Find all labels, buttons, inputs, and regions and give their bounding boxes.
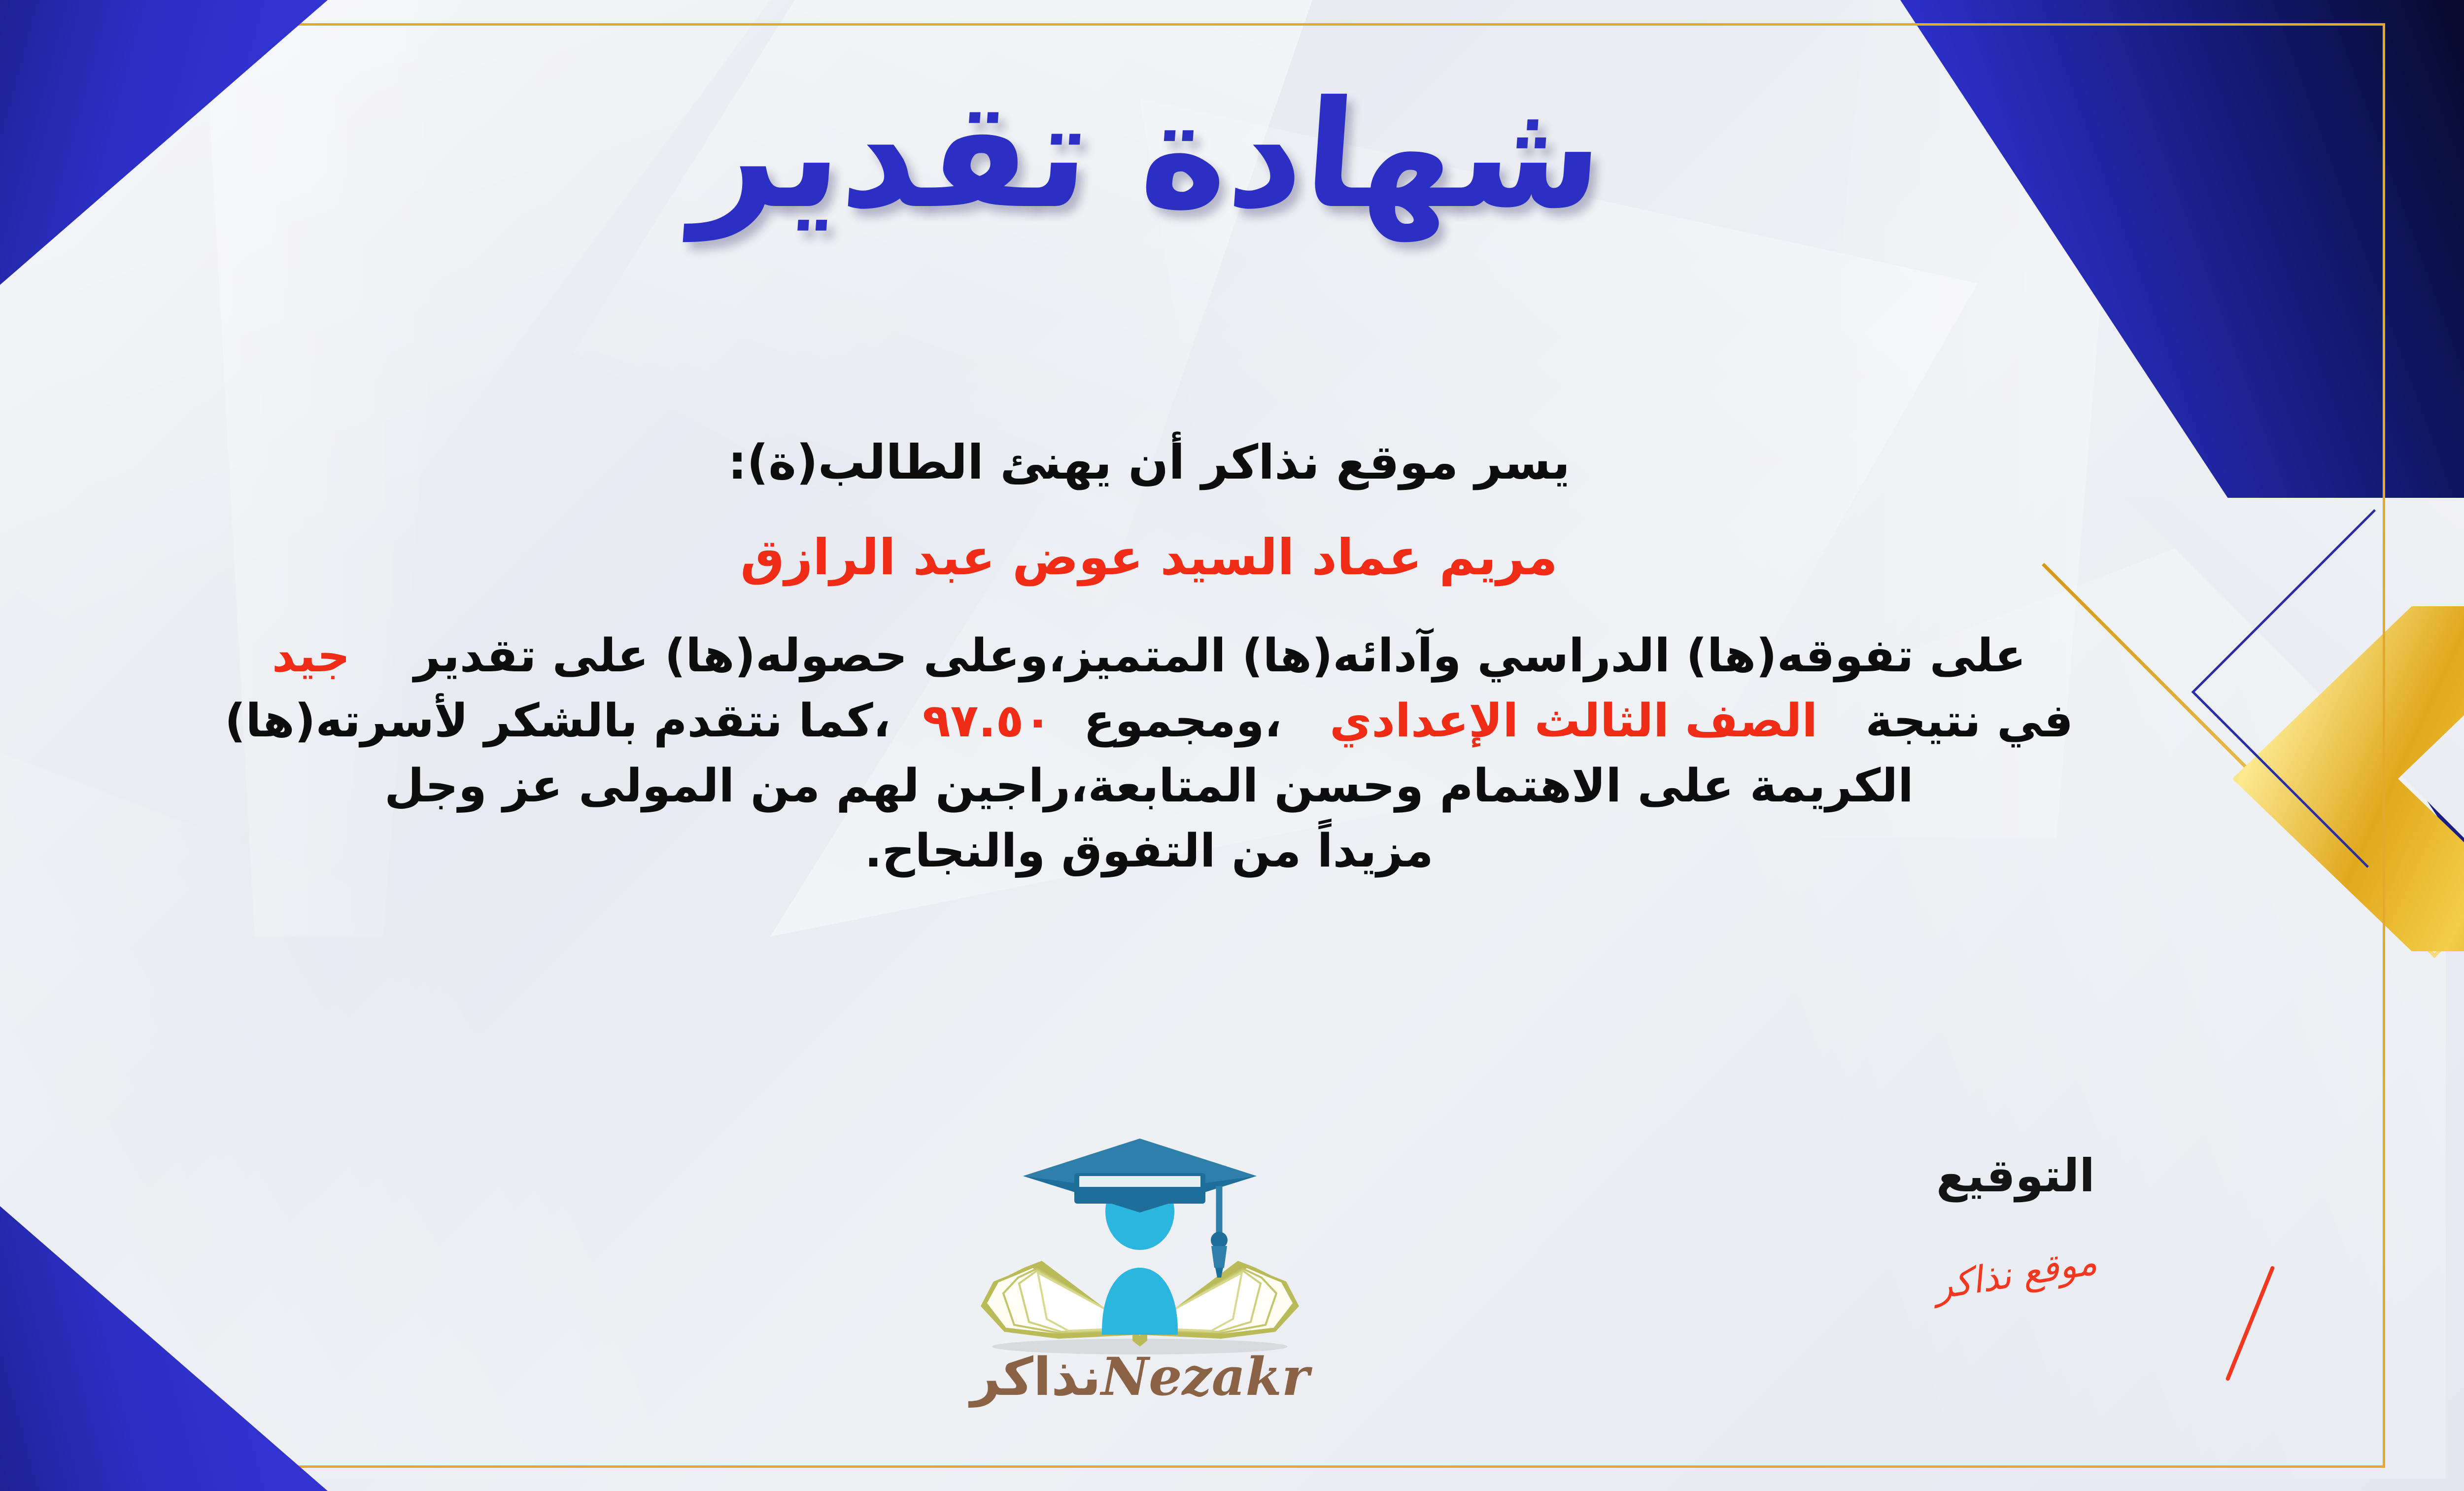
signature-block: التوقيع موقع نذاكر [1843, 1153, 2188, 1295]
logo-arabic-text: نذاكر [968, 1347, 1101, 1408]
certificate-body: يسر موقع نذاكر أن يهنئ الطالب(ة): مريم ع… [0, 429, 2316, 884]
certificate-content: شهادة تقدير يسر موقع نذاكر أن يهنئ الطال… [0, 0, 2464, 1491]
certificate-title: شهادة تقدير [0, 74, 2464, 237]
total-label: ،ومجموع [1084, 694, 1282, 747]
family-thanks-line: الكريمة على الاهتمام وحسن المتابعة،راجين… [0, 753, 2316, 818]
logo-wordmark-latin: Nezakrنذاكر [968, 1346, 1313, 1408]
signature-label: التوقيع [1843, 1153, 2188, 1199]
signature-stroke [2225, 1266, 2275, 1382]
graduation-cap-icon [1023, 1139, 1257, 1278]
thanks-text: ،كما نتقدم بالشكر لأسرته(ها) [225, 694, 890, 747]
logo-graphic: Nezakrنذاكر [945, 1134, 1335, 1410]
result-line: في نتيجة الصف الثالث الإعدادي ،ومجموع ٩٧… [0, 688, 2316, 753]
nezakr-logo: Nezakrنذاكر [945, 1134, 1335, 1410]
result-prefix: في نتيجة [1865, 694, 2073, 747]
grade-value: جيد [272, 629, 350, 682]
total-score-value: ٩٧.٥٠ [923, 694, 1052, 747]
logo-latin-text: Nezakr [1099, 1346, 1313, 1407]
headline-text: يسر موقع نذاكر أن يهنئ الطالب(ة): [0, 429, 2316, 496]
closing-line: مزيداً من التفوق والنجاح. [0, 818, 2316, 883]
student-body [1102, 1268, 1178, 1335]
certificate-page: شهادة تقدير يسر موقع نذاكر أن يهنئ الطال… [0, 0, 2464, 1491]
achievement-line: على تفوقه(ها) الدراسي وآدائه(ها) المتميز… [0, 623, 2316, 688]
student-name: مريم عماد السيد عوض عبد الرازق [0, 522, 2316, 592]
stage-value: الصف الثالث الإعدادي [1330, 694, 1817, 747]
signature-script: موقع نذاكر [1931, 1241, 2100, 1308]
achievement-text: على تفوقه(ها) الدراسي وآدائه(ها) المتميز… [414, 629, 2026, 682]
